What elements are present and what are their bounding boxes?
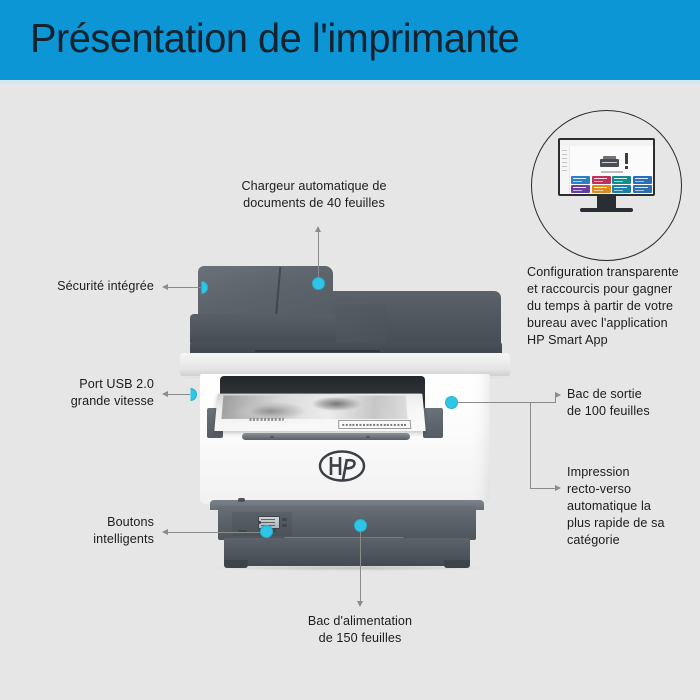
- monitor-hp-logo: hp: [602, 190, 606, 195]
- app-printer-illustration: [600, 156, 619, 167]
- callout-usb-line1: Port USB 2.0: [30, 376, 154, 393]
- control-button[interactable]: [282, 518, 287, 521]
- callout-output-tray-line1: Bac de sortie: [567, 386, 697, 403]
- leader-arrow-output-tray: [555, 392, 561, 398]
- monitor-base: [580, 208, 633, 212]
- leader-arrow-usb: [162, 391, 168, 397]
- app-tile: [571, 176, 590, 184]
- output-tray-extension-bar: [242, 433, 410, 440]
- app-tile: [571, 185, 590, 193]
- callout-hp-smart-app: Configuration transparente et raccourcis…: [527, 264, 697, 349]
- output-tray-post-right: [423, 408, 443, 438]
- hp-logo: [318, 450, 366, 482]
- input-tray-body: [224, 538, 470, 566]
- leader-arrow-input-tray: [357, 601, 363, 607]
- leader-line-usb: [168, 394, 190, 395]
- leader-line-duplex-vert: [530, 402, 531, 488]
- callout-output-tray: Bac de sortie de 100 feuilles: [567, 386, 697, 420]
- callout-duplex-line3: automatique la: [567, 498, 697, 515]
- hotspot-dot-adf[interactable]: [312, 277, 325, 290]
- header-banner: Présentation de l'imprimante: [0, 0, 700, 80]
- monitor-screen: [560, 140, 653, 194]
- printer-illustration: [180, 258, 525, 588]
- callout-duplex-line4: plus rapide de sa: [567, 515, 697, 532]
- printed-sheet: [214, 394, 425, 431]
- app-topbar: [560, 140, 653, 146]
- callout-hp-smart-line2: et raccourcis pour gagner: [527, 281, 697, 298]
- callout-duplex-line2: recto-verso: [567, 481, 697, 498]
- hp-smart-app-monitor-inset: hp: [531, 110, 682, 261]
- leader-arrow-adf: [315, 226, 321, 232]
- app-alert-icon: [625, 153, 628, 164]
- banner-underline: [0, 80, 700, 84]
- callout-input-tray-line2: de 150 feuilles: [260, 630, 460, 647]
- app-tile: [612, 185, 631, 193]
- printed-sheet-text-box: [338, 420, 411, 429]
- infographic-canvas: Présentation de l'imprimante: [0, 0, 700, 700]
- callout-adf-line1: Chargeur automatique de: [214, 178, 414, 195]
- callout-buttons: Boutons intelligents: [30, 514, 154, 548]
- callout-output-tray-line2: de 100 feuilles: [567, 403, 697, 420]
- printer-ground-shadow: [210, 565, 488, 571]
- callout-hp-smart-line1: Configuration transparente: [527, 264, 697, 281]
- power-button[interactable]: [238, 498, 245, 502]
- app-sidebar: [560, 146, 570, 194]
- app-tile-grid: [571, 176, 652, 193]
- callout-adf: Chargeur automatique de documents de 40 …: [214, 178, 414, 212]
- callout-buttons-line2: intelligents: [30, 531, 154, 548]
- callout-security-line1: Sécurité intégrée: [20, 278, 154, 295]
- leader-line-output-tray: [451, 402, 555, 403]
- control-button[interactable]: [282, 524, 287, 527]
- app-tile: [592, 176, 611, 184]
- leader-line-security: [168, 287, 201, 288]
- callout-duplex-line1: Impression: [567, 464, 697, 481]
- callout-usb: Port USB 2.0 grande vitesse: [30, 376, 154, 410]
- hotspot-dot-output-tray[interactable]: [445, 396, 458, 409]
- leader-arrow-security: [162, 284, 168, 290]
- callout-usb-line2: grande vitesse: [30, 393, 154, 410]
- callout-hp-smart-line5: HP Smart App: [527, 332, 697, 349]
- printed-sheet-image: [221, 396, 407, 419]
- leader-line-adf: [318, 229, 319, 277]
- app-tile: [633, 176, 652, 184]
- leader-line-duplex: [530, 488, 555, 489]
- control-button[interactable]: [258, 521, 261, 524]
- hotspot-dot-buttons[interactable]: [260, 525, 273, 538]
- callout-duplex: Impression recto-verso automatique la pl…: [567, 464, 697, 549]
- callout-buttons-line1: Boutons: [30, 514, 154, 531]
- page-title: Présentation de l'imprimante: [30, 14, 519, 62]
- app-tile: [633, 185, 652, 193]
- hotspot-dot-input-tray[interactable]: [354, 519, 367, 532]
- app-tile: [612, 176, 631, 184]
- leader-line-buttons: [168, 532, 266, 533]
- app-tile: [592, 185, 611, 193]
- leader-line-input-tray: [360, 531, 361, 603]
- leader-arrow-duplex: [555, 485, 561, 491]
- callout-hp-smart-line4: bureau avec l'application: [527, 315, 697, 332]
- printed-sheet-text-left: [249, 418, 283, 420]
- callout-security: Sécurité intégrée: [20, 278, 154, 295]
- callout-adf-line2: documents de 40 feuilles: [214, 195, 414, 212]
- leader-arrow-buttons: [162, 529, 168, 535]
- scanner-shadow-line: [255, 350, 380, 352]
- callout-input-tray-line1: Bac d'alimentation: [260, 613, 460, 630]
- callout-hp-smart-line3: du temps à partir de votre: [527, 298, 697, 315]
- callout-input-tray: Bac d'alimentation de 150 feuilles: [260, 613, 460, 647]
- scanner-flatbed-panel: [332, 303, 387, 342]
- app-caption-placeholder: [601, 171, 623, 173]
- callout-duplex-line5: catégorie: [567, 532, 697, 549]
- monitor-frame: [558, 138, 655, 196]
